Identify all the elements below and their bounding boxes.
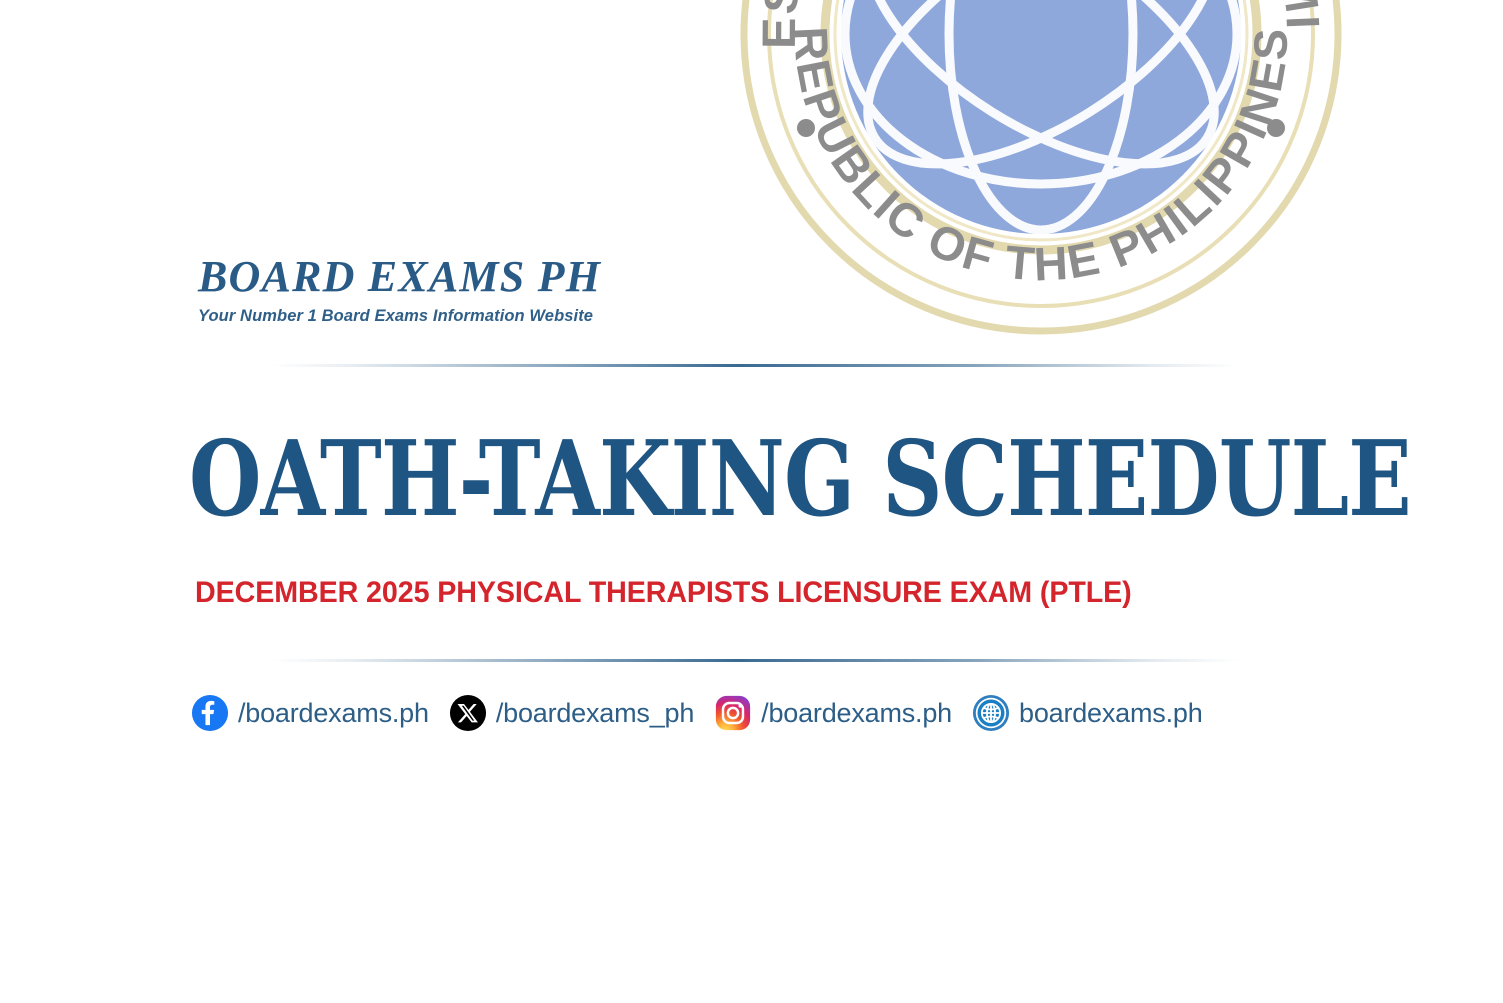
social-link-instagram[interactable]: /boardexams.ph (714, 694, 952, 732)
social-link-facebook[interactable]: /boardexams.ph (191, 694, 429, 732)
svg-text:PROFESSIONAL REGULATION COMMIS: PROFESSIONAL REGULATION COMMISSION (735, 0, 1330, 49)
brand-tagline: Your Number 1 Board Exams Information We… (198, 307, 898, 326)
social-link-website[interactable]: boardexams.ph (972, 694, 1203, 732)
brand-lockup: BOARD EXAMS PH Your Number 1 Board Exams… (198, 255, 898, 326)
social-links-bar: /boardexams.ph /boardexams_ph (191, 694, 1203, 732)
seal-ring-text: PROFESSIONAL REGULATION COMMISSION REPUB… (735, 0, 1330, 291)
x-handle: /boardexams_ph (496, 698, 694, 729)
divider-bottom (272, 659, 1239, 662)
page-subtitle: DECEMBER 2025 PHYSICAL THERAPISTS LICENS… (195, 578, 1341, 608)
brand-name: BOARD EXAMS PH (198, 255, 898, 299)
x-twitter-icon (449, 694, 487, 732)
svg-text:REPUBLIC OF THE PHILIPPINES: REPUBLIC OF THE PHILIPPINES (784, 25, 1297, 290)
website-handle: boardexams.ph (1019, 698, 1203, 729)
poster-canvas: PROFESSIONAL REGULATION COMMISSION REPUB… (0, 0, 1503, 1003)
divider-top (272, 364, 1239, 367)
globe-icon (972, 694, 1010, 732)
instagram-handle: /boardexams.ph (761, 698, 952, 729)
page-title: OATH-TAKING SCHEDULE (189, 427, 1093, 531)
instagram-icon (714, 694, 752, 732)
social-link-x[interactable]: /boardexams_ph (449, 694, 694, 732)
facebook-icon (191, 694, 229, 732)
facebook-handle: /boardexams.ph (238, 698, 429, 729)
